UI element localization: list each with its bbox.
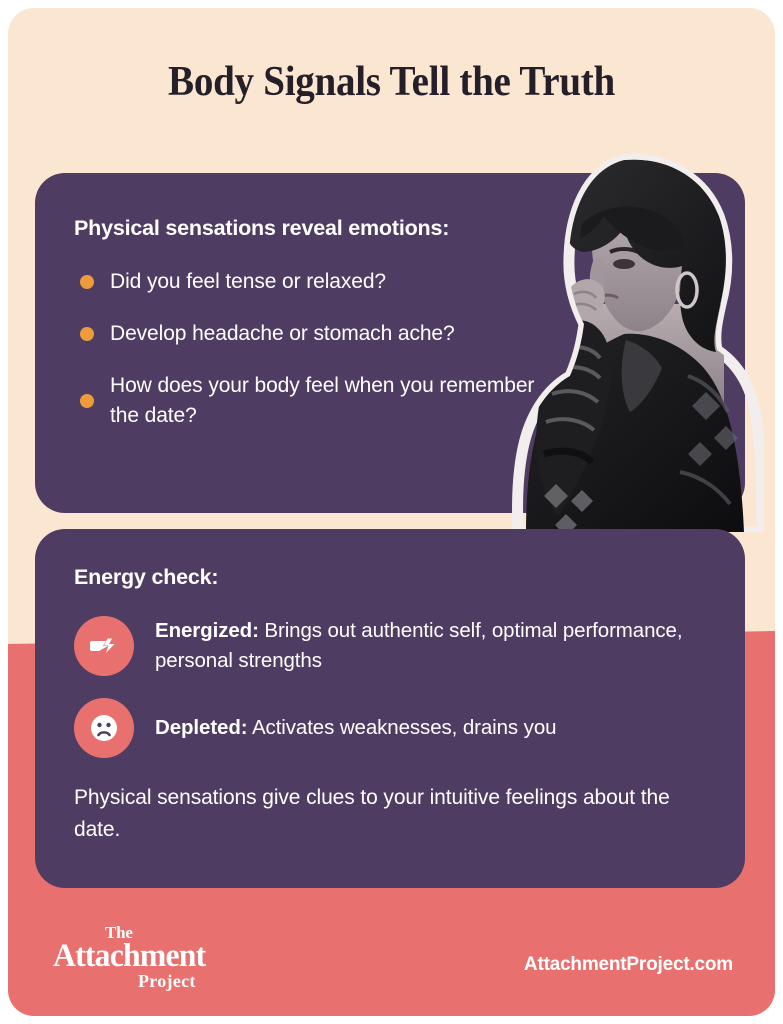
energy-check-heading: Energy check: (74, 565, 714, 590)
closing-paragraph: Physical sensations give clues to your i… (74, 782, 714, 845)
list-item-text: Energized: Brings out authentic self, op… (155, 616, 714, 675)
bullet-dot-icon (80, 394, 94, 408)
woman-thinking-photo (474, 154, 764, 532)
logo-attachment-text: Attachment (53, 938, 205, 975)
energy-label: Energized: (155, 619, 259, 642)
frowning-face-icon (74, 698, 134, 758)
bullet-dot-icon (80, 275, 94, 289)
list-item-text: Did you feel tense or relaxed? (110, 267, 386, 297)
list-item: Depleted: Activates weaknesses, drains y… (74, 698, 714, 758)
energy-rows: Energized: Brings out authentic self, op… (74, 616, 714, 758)
energy-label: Depleted: (155, 716, 248, 739)
battery-charging-icon (74, 616, 134, 676)
attachment-project-logo: The Attachment Project (53, 923, 223, 993)
energy-check-card: Energy check: Energized: Brings out auth… (35, 529, 745, 888)
energy-check-content: Energy check: Energized: Brings out auth… (74, 565, 714, 845)
list-item-text: Develop headache or stomach ache? (110, 319, 455, 349)
logo-project-text: Project (138, 971, 196, 992)
page-title: Body Signals Tell the Truth (35, 58, 748, 106)
site-url: AttachmentProject.com (524, 954, 733, 976)
energy-description: Activates weaknesses, drains you (248, 716, 557, 739)
list-item: Energized: Brings out authentic self, op… (74, 616, 714, 676)
bullet-dot-icon (80, 327, 94, 341)
list-item-text: Depleted: Activates weaknesses, drains y… (155, 713, 556, 743)
poster-canvas: Body Signals Tell the Truth Physical sen… (8, 8, 775, 1016)
